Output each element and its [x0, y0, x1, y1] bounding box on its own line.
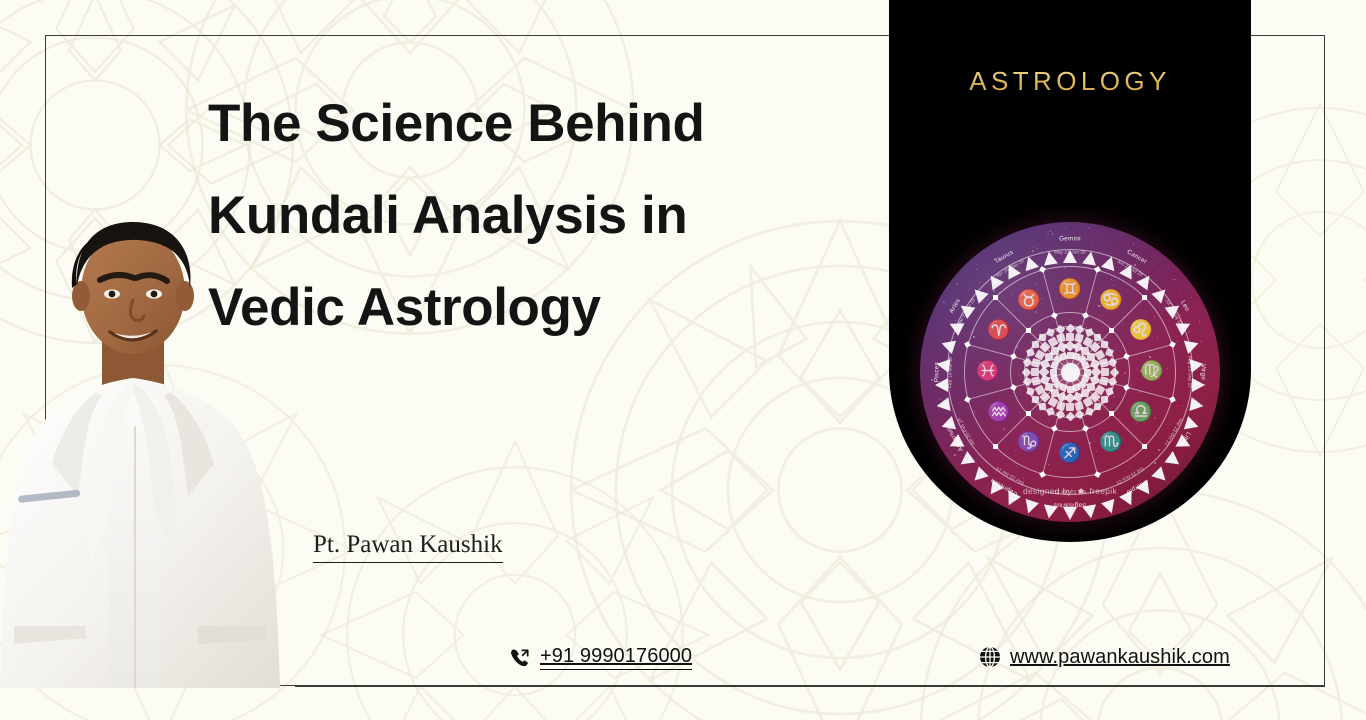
zodiac-dates-virgo: Aug 23-Sep 22	[1188, 336, 1193, 408]
author-portrait	[0, 196, 294, 688]
zodiac-name-virgo: Virgo	[1200, 336, 1207, 408]
phone-number: +91 9990176000	[540, 645, 692, 670]
website-url: www.pawankaushik.com	[1010, 646, 1230, 669]
zodiac-glyph-pisces: ♓	[973, 357, 1003, 387]
globe-icon	[978, 645, 1002, 669]
author-byline: Pt. Pawan Kaushik	[313, 531, 503, 563]
zodiac-glyph-aquarius: ♒	[984, 398, 1014, 428]
astrology-card-title: ASTROLOGY	[889, 66, 1251, 97]
headline-line-3: Vedic Astrology	[208, 262, 878, 354]
zodiac-wheel-disc: ♊GeminiMay 21-Jun 20♋CancerJun 21-Jul 22…	[920, 222, 1220, 522]
zodiac-glyph-scorpio: ♏	[1096, 428, 1126, 458]
zodiac-dates-pisces: Feb 19-Mar 20	[948, 336, 953, 408]
zodiac-glyph-leo: ♌	[1126, 316, 1156, 346]
zodiac-glyph-cancer: ♋	[1096, 286, 1126, 316]
page-title: The Science Behind Kundali Analysis in V…	[208, 78, 878, 354]
wheel-rosette	[1018, 320, 1122, 424]
headline-line-1: The Science Behind	[208, 78, 878, 170]
freepik-logo-icon	[1077, 487, 1085, 495]
zodiac-dates-gemini: May 21-Jun 20	[1034, 250, 1106, 255]
zodiac-glyph-libra: ♎	[1126, 398, 1156, 428]
zodiac-glyph-taurus: ♉	[1014, 286, 1044, 316]
zodiac-glyph-sagittarius: ♐	[1055, 439, 1085, 469]
freepik-attribution: designed by freepik	[889, 486, 1251, 496]
zodiac-wheel: ♊GeminiMay 21-Jun 20♋CancerJun 21-Jul 22…	[920, 222, 1220, 522]
website-contact[interactable]: www.pawankaushik.com	[978, 645, 1230, 669]
footer-divider	[295, 685, 1325, 687]
phone-outgoing-icon	[508, 646, 532, 670]
zodiac-name-pisces: Pisces	[934, 336, 941, 408]
phone-contact[interactable]: +91 9990176000	[508, 645, 692, 670]
zodiac-name-gemini: Gemini	[1034, 236, 1106, 243]
zodiac-glyph-capricorn: ♑	[1014, 428, 1044, 458]
attribution-prefix: designed by	[1023, 486, 1072, 496]
blog-banner: ASTROLOGY ♊GeminiMay 21-Jun 20♋CancerJun…	[0, 0, 1366, 720]
headline-line-2: Kundali Analysis in	[208, 170, 878, 262]
zodiac-glyph-aries: ♈	[984, 316, 1014, 346]
astrology-card: ASTROLOGY ♊GeminiMay 21-Jun 20♋CancerJun…	[889, 0, 1251, 542]
wheel-hub	[1061, 363, 1080, 382]
attribution-brand: freepik	[1089, 486, 1117, 496]
zodiac-glyph-virgo: ♍	[1137, 357, 1167, 387]
zodiac-name-sagittarius: Sagittarius	[1034, 502, 1106, 509]
zodiac-glyph-gemini: ♊	[1055, 275, 1085, 305]
